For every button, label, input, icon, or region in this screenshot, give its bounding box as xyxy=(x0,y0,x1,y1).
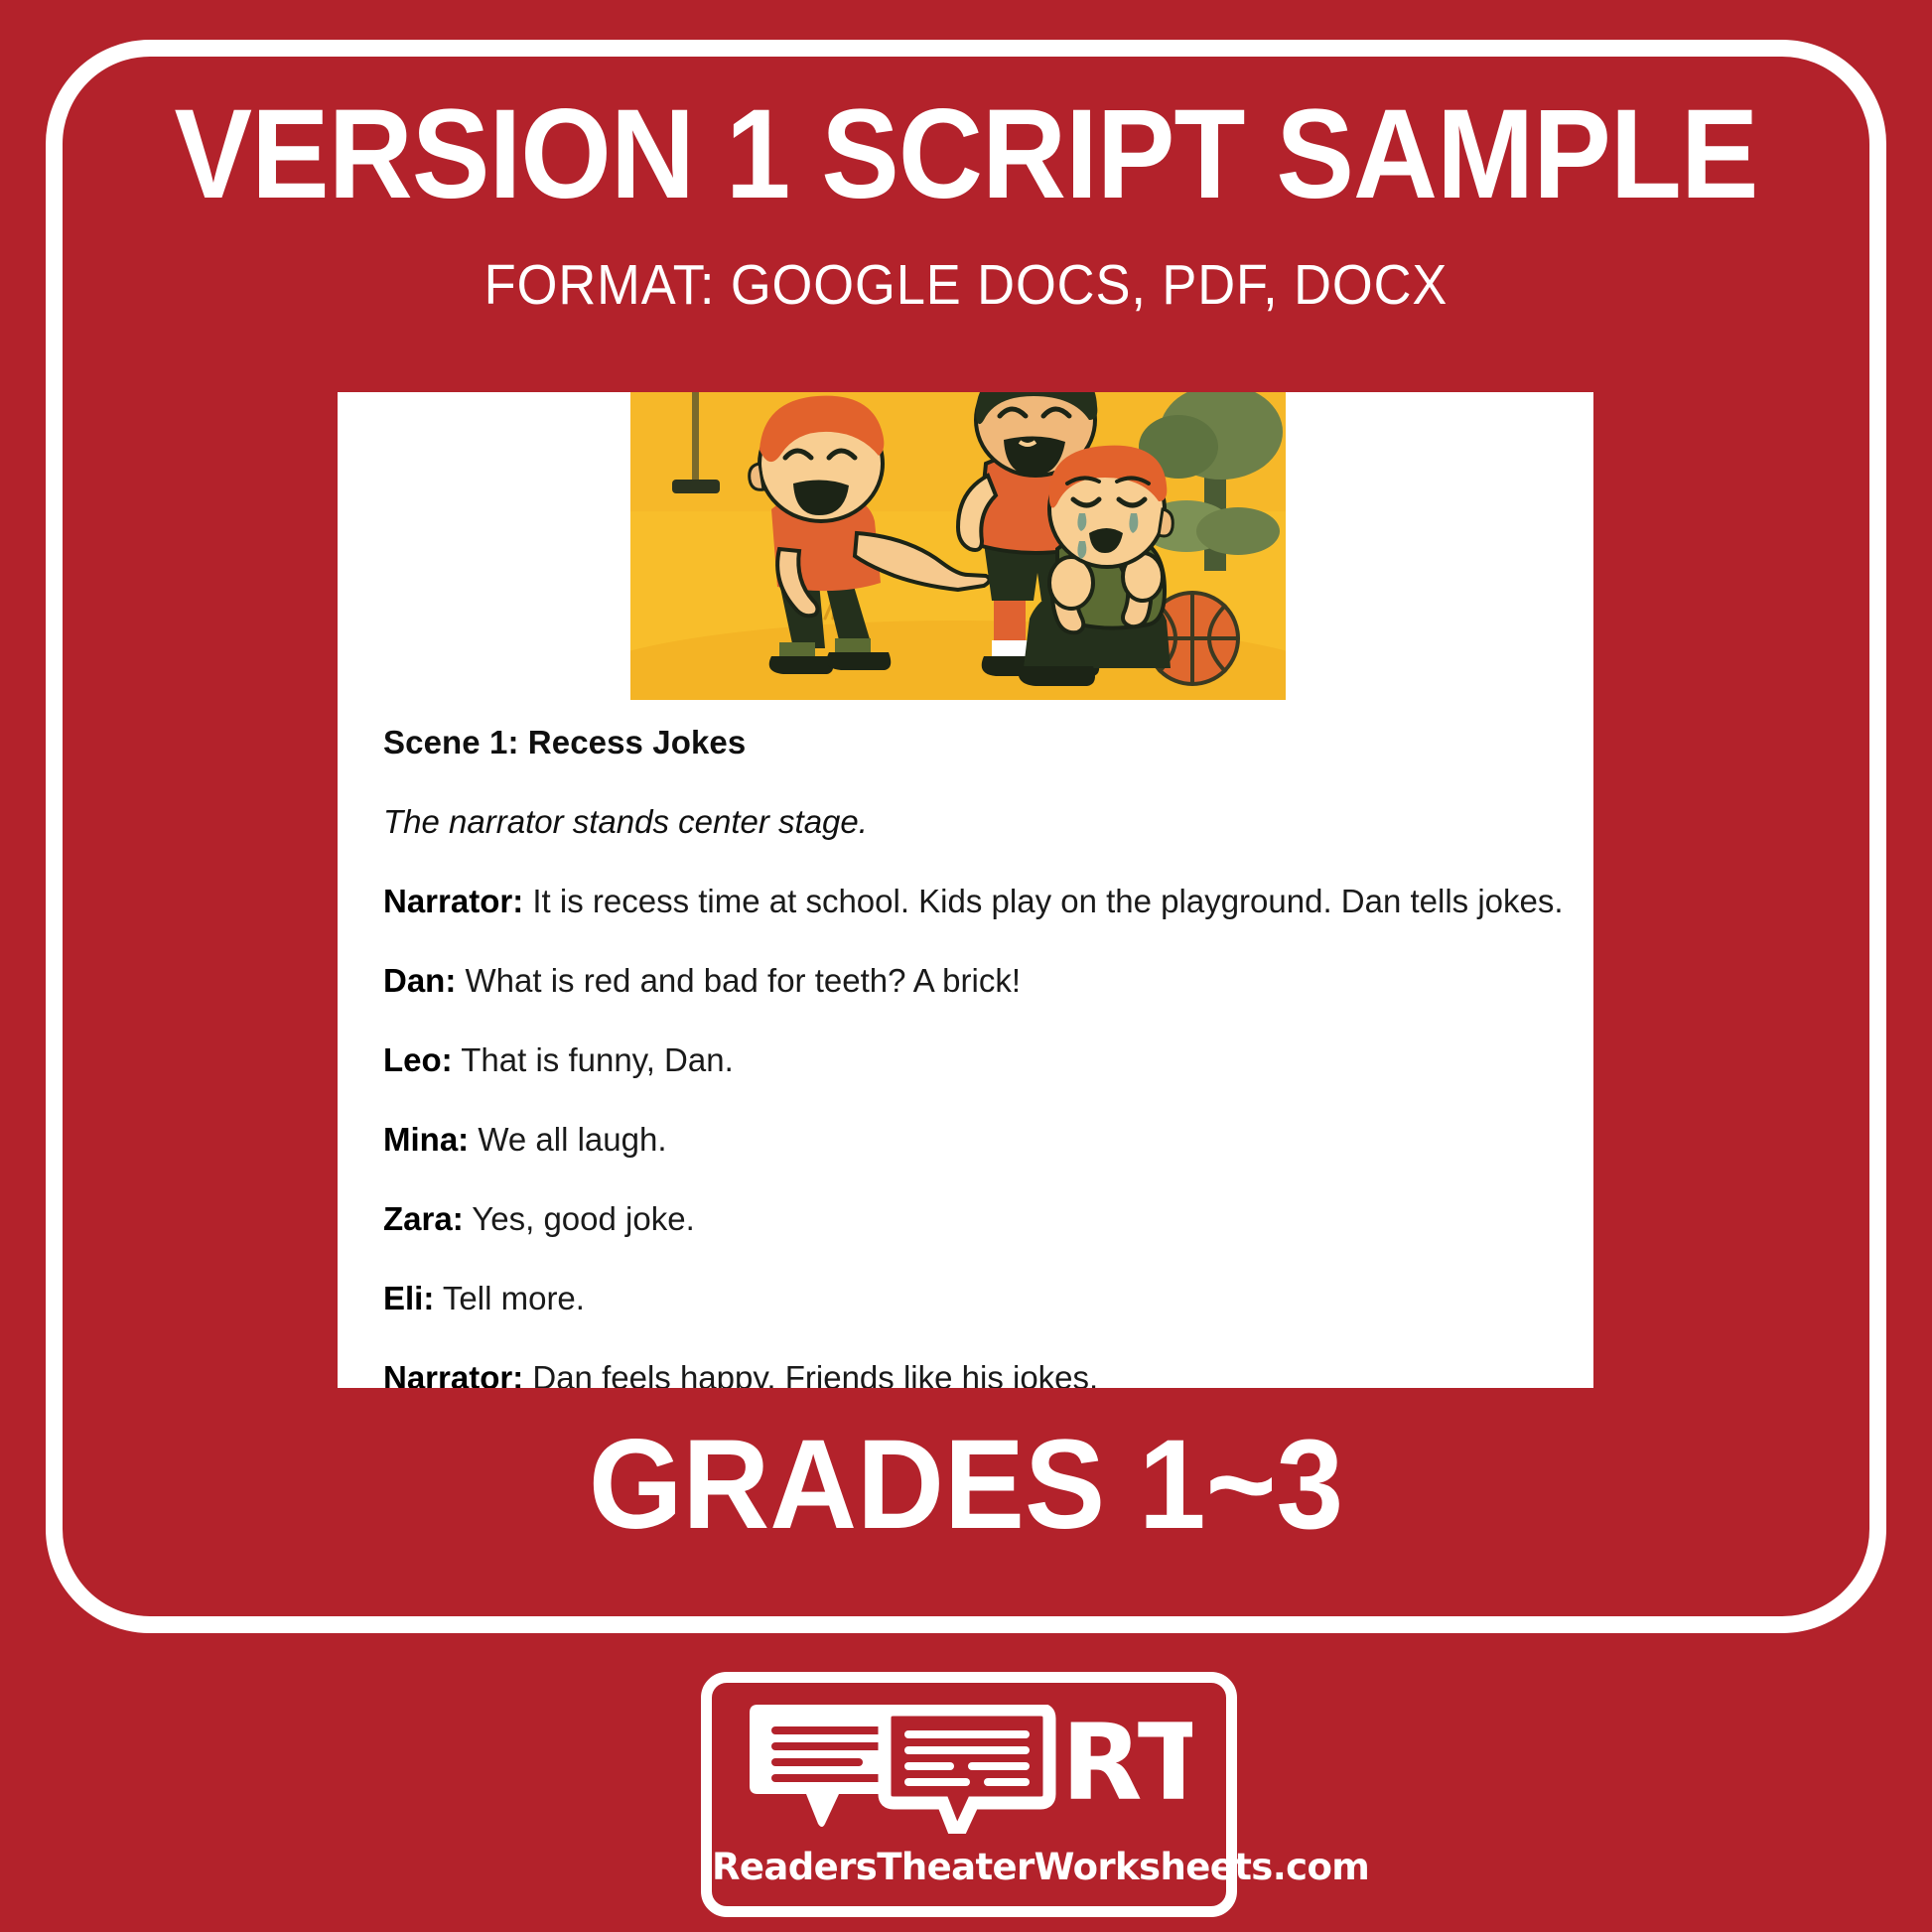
speaker-text: Tell more. xyxy=(434,1280,585,1316)
document-preview-card: Scene 1: Recess Jokes The narrator stand… xyxy=(338,392,1593,1388)
logo-url-text: ReadersTheaterWorksheets.com xyxy=(712,1846,1226,1888)
speaker-text: That is funny, Dan. xyxy=(453,1041,734,1078)
speaker-label: Mina: xyxy=(383,1121,469,1158)
format-label: FORMAT: GOOGLE DOCS, PDF, DOCX xyxy=(77,218,1855,318)
logo-initials: RT xyxy=(1061,1705,1192,1824)
page-title: VERSION 1 SCRIPT SAMPLE xyxy=(77,0,1855,218)
speaker-text: We all laugh. xyxy=(469,1121,666,1158)
speaker-label: Eli: xyxy=(383,1280,434,1316)
script-line: Narrator: Dan feels happy. Friends like … xyxy=(383,1317,1584,1388)
playground-scene-illustration xyxy=(630,392,1286,700)
speaker-label: Narrator: xyxy=(383,883,523,919)
script-line: Zara: Yes, good joke. xyxy=(383,1159,1584,1238)
script-line: Dan: What is red and bad for teeth? A br… xyxy=(383,920,1584,1000)
scene-heading: Scene 1: Recess Jokes xyxy=(383,700,1584,761)
script-line: Mina: We all laugh. xyxy=(383,1079,1584,1159)
speaker-label: Narrator: xyxy=(383,1359,523,1388)
speaker-label: Dan: xyxy=(383,962,456,999)
grades-banner: GRADES 1~3 xyxy=(49,1422,1884,1549)
speaker-text: Yes, good joke. xyxy=(464,1200,695,1237)
speech-bubbles-icon: RT xyxy=(746,1705,1192,1834)
speaker-label: Zara: xyxy=(383,1200,464,1237)
header: VERSION 1 SCRIPT SAMPLE FORMAT: GOOGLE D… xyxy=(0,0,1932,318)
script-line: Leo: That is funny, Dan. xyxy=(383,1000,1584,1079)
speaker-text: It is recess time at school. Kids play o… xyxy=(523,883,1563,919)
stage-direction: The narrator stands center stage. xyxy=(383,761,1584,841)
speaker-text: Dan feels happy. Friends like his jokes. xyxy=(523,1359,1098,1388)
speaker-text: What is red and bad for teeth? A brick! xyxy=(456,962,1021,999)
footer-logo: RT ReadersTheaterWorksheets.com xyxy=(701,1672,1237,1917)
speaker-label: Leo: xyxy=(383,1041,453,1078)
script-line: Eli: Tell more. xyxy=(383,1238,1584,1317)
script-text-body: Scene 1: Recess Jokes The narrator stand… xyxy=(338,700,1593,1388)
script-line: Narrator: It is recess time at school. K… xyxy=(383,841,1584,920)
